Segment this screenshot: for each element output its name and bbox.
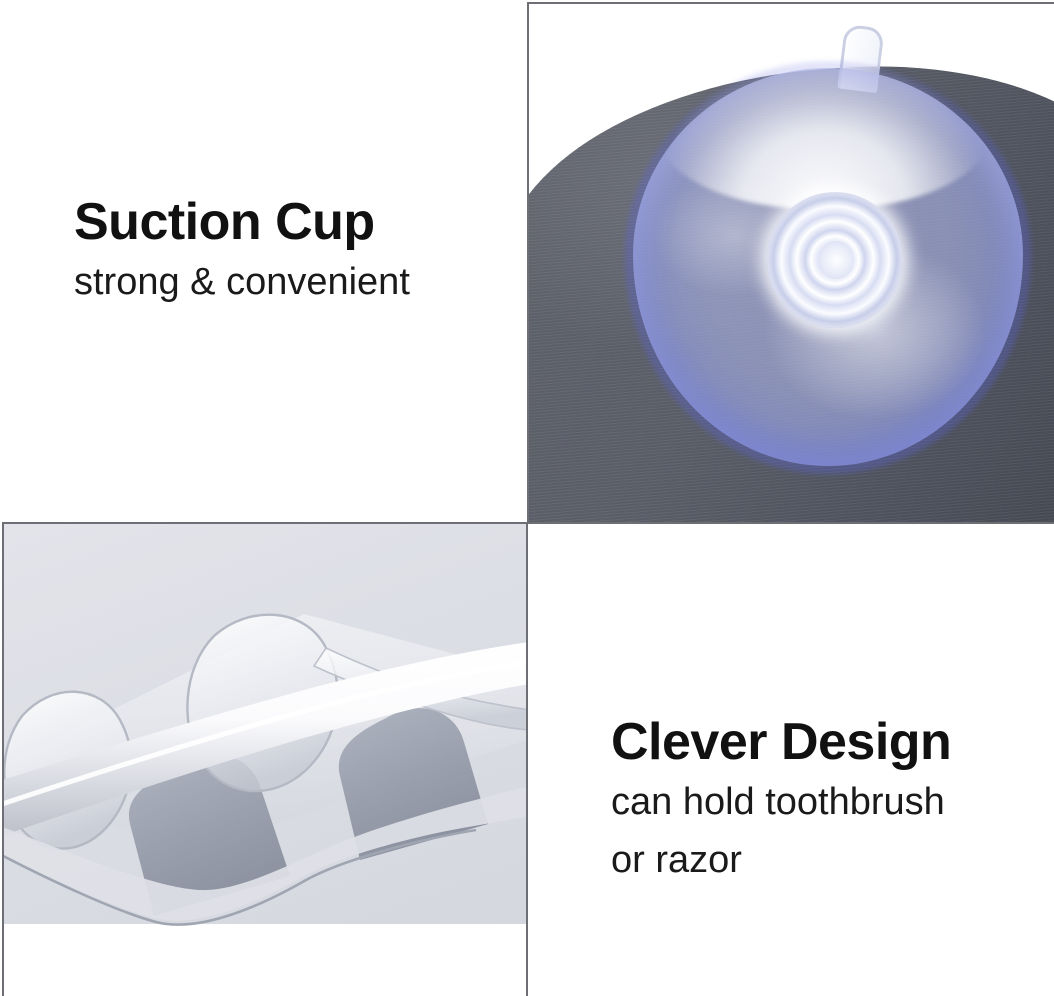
acrylic-holder-illustration: [4, 524, 528, 996]
feature-text-suction-cup: Suction Cup strong & convenient: [74, 196, 410, 306]
suction-cup-centre-rings: [767, 192, 903, 328]
feature-subtitle-clever-design-line-1: can hold toothbrush: [611, 780, 951, 826]
feature-text-clever-design: Clever Design can hold toothbrush or raz…: [611, 716, 951, 883]
acrylic-holder-photo: [2, 522, 528, 996]
feature-subtitle-clever-design-line-2: or razor: [611, 838, 951, 884]
suction-cup-object: [619, 26, 1039, 496]
product-feature-infographic: Suction Cup strong & convenient: [0, 0, 1054, 996]
feature-subtitle-suction-cup: strong & convenient: [74, 260, 410, 306]
suction-cup-top-highlight: [659, 60, 989, 210]
feature-title-suction-cup: Suction Cup: [74, 196, 410, 248]
suction-cup-photo: [527, 2, 1054, 524]
feature-title-clever-design: Clever Design: [611, 716, 951, 768]
